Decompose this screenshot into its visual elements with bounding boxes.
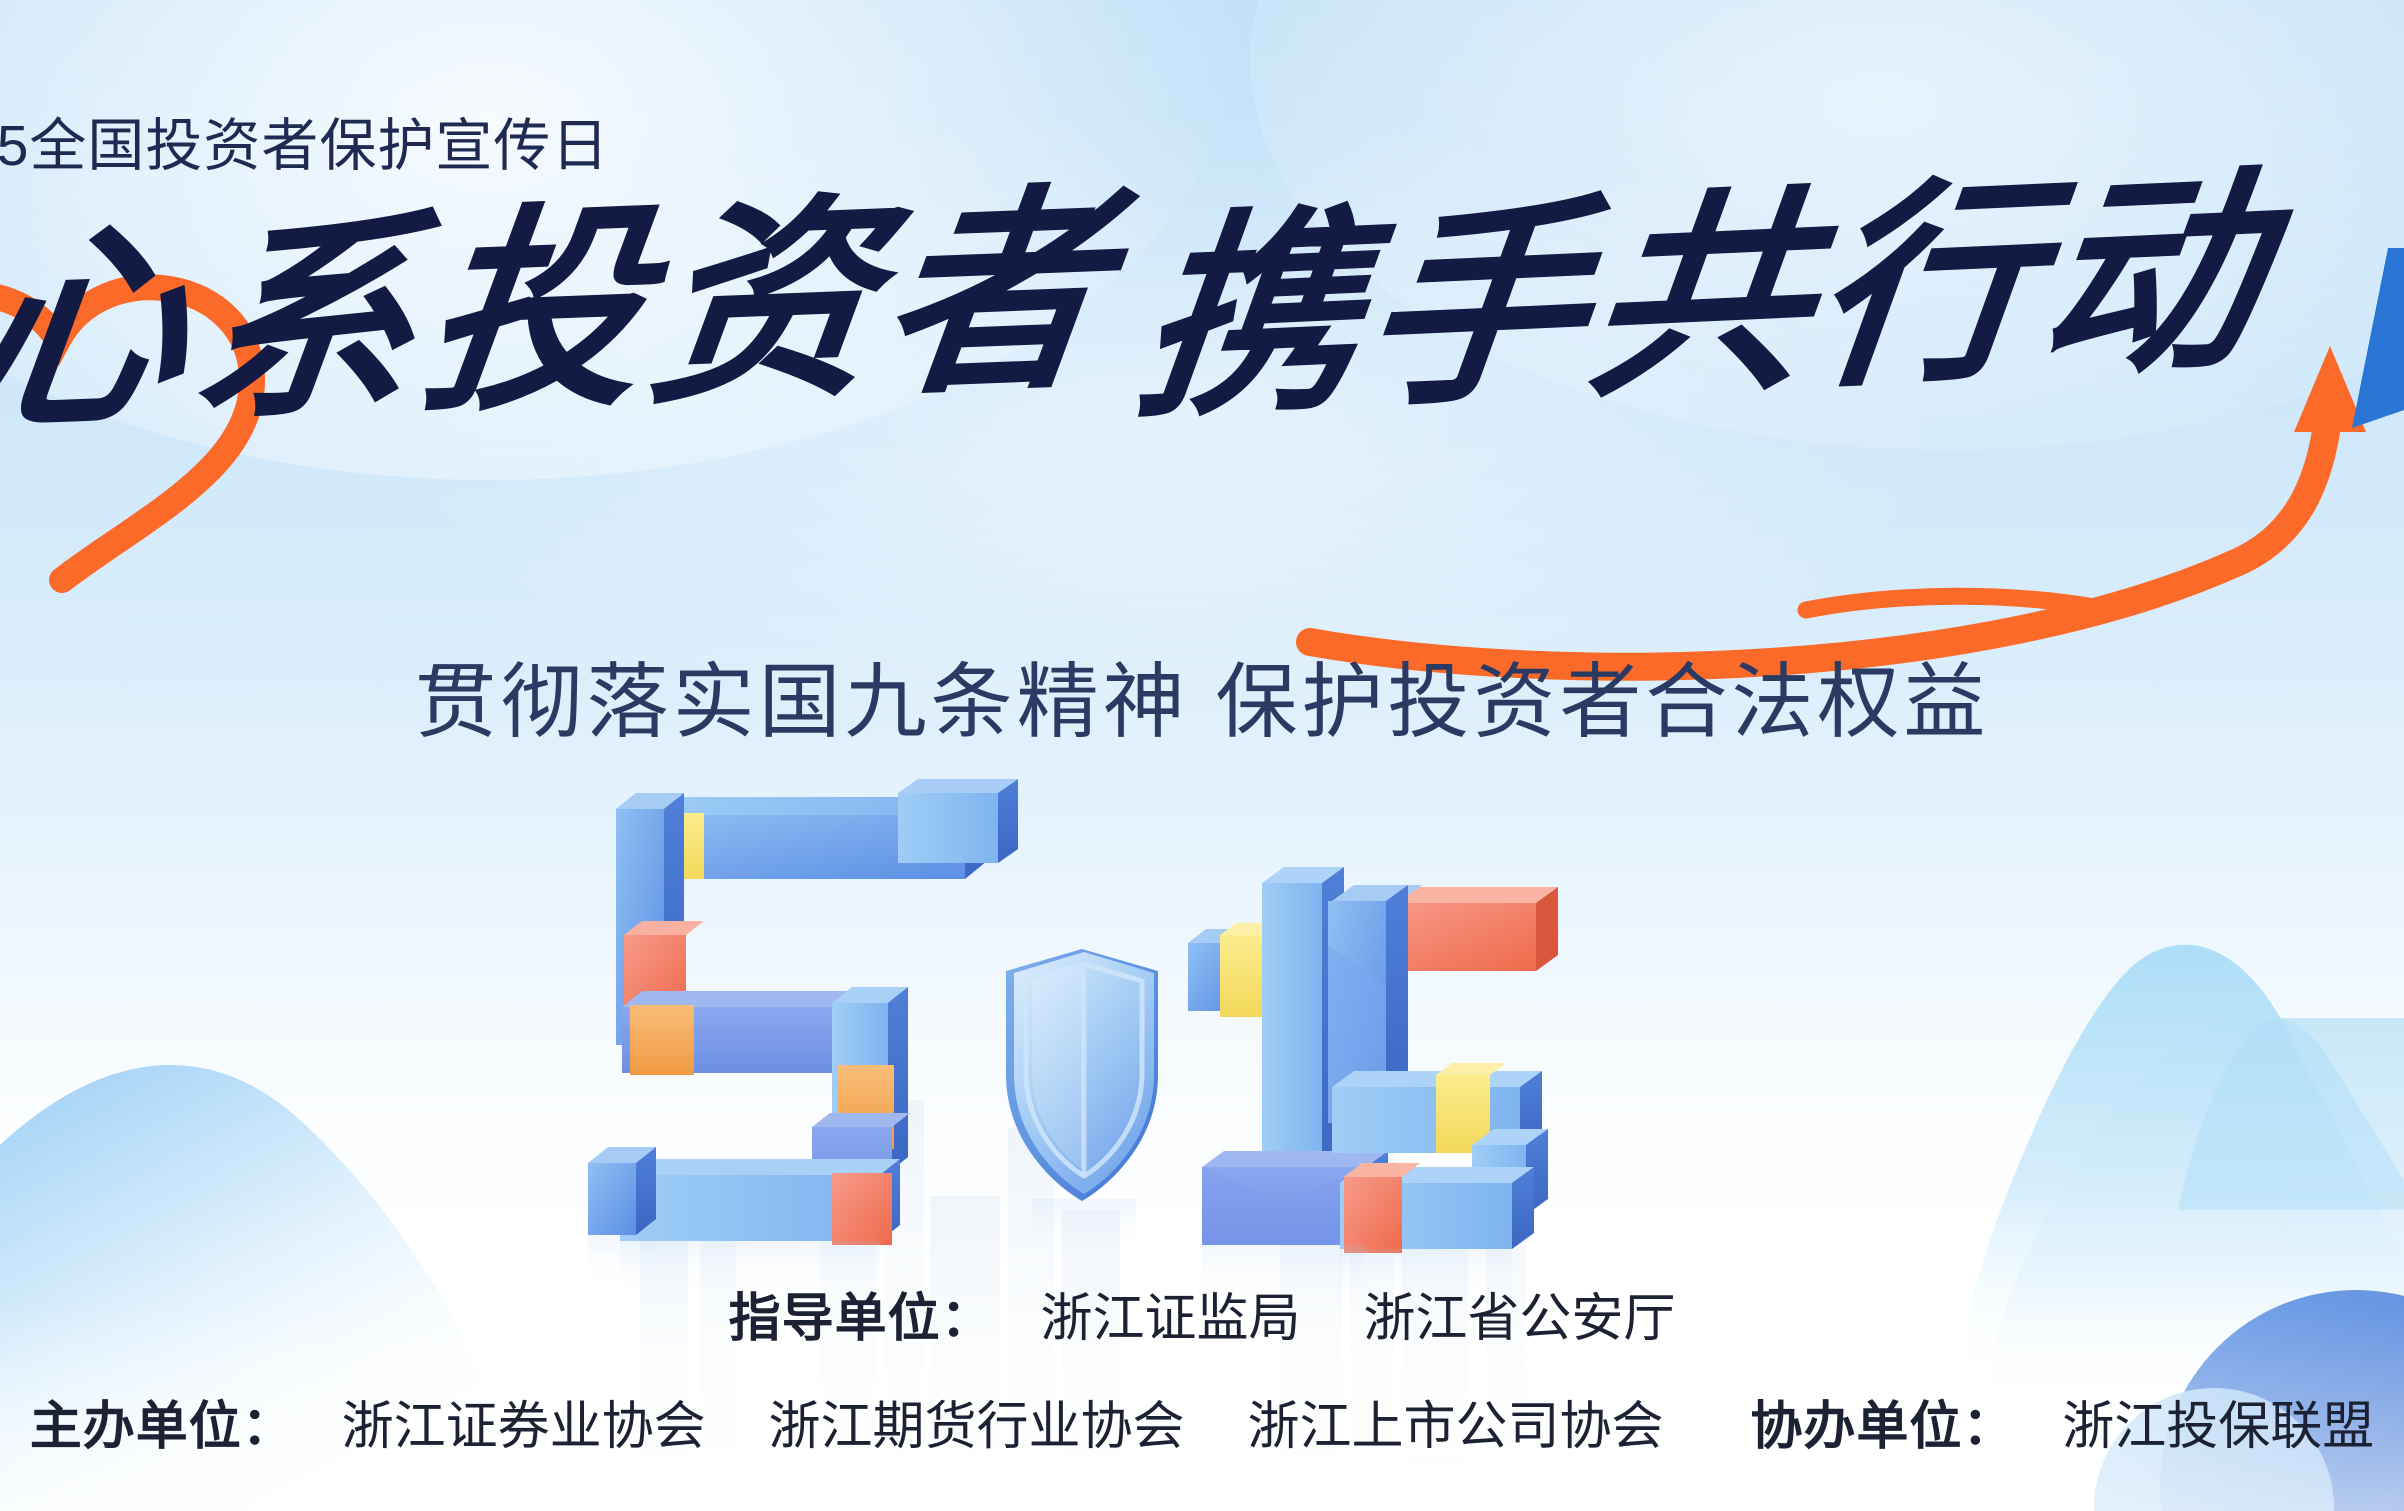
logo-515 <box>580 775 1580 1315</box>
poster-canvas: 15全国投资者保护宣传日 心系投资者 携手共行动 贯彻落实国九条精神 保护投资者… <box>0 0 2404 1511</box>
host-org-2: 浙江期货行业协会 <box>769 1398 1185 1456</box>
logo-515-svg <box>580 775 1580 1315</box>
footer: 指导单位： 浙江证监局 浙江省公安厅 主办单位： 浙江证券业协会 浙江期货行业协… <box>0 1293 2404 1453</box>
logo-digit-5-right <box>1328 885 1558 1253</box>
page-title: 15全国投资者保护宣传日 <box>0 118 609 175</box>
footer-guide-line: 指导单位： 浙江证监局 浙江省公安厅 <box>0 1293 2404 1345</box>
logo-digit-5-left <box>588 779 1018 1245</box>
guide-label: 指导单位： <box>729 1290 994 1348</box>
blue-chevron-icon <box>2352 248 2404 428</box>
footer-host-line: 主办单位： 浙江证券业协会 浙江期货行业协会 浙江上市公司协会 协办单位： 浙江… <box>0 1401 2404 1453</box>
guide-org-1: 浙江证监局 <box>1040 1290 1300 1348</box>
coorganizer-org-1: 浙江投保联盟 <box>2062 1398 2374 1456</box>
shield-icon <box>1006 939 1158 1201</box>
headline-left-text: 心系投资者 <box>0 180 1126 442</box>
host-org-1: 浙江证券业协会 <box>342 1398 706 1456</box>
headline-right-text: 携手共行动 <box>1128 161 2279 430</box>
host-org-3: 浙江上市公司协会 <box>1247 1398 1663 1456</box>
hill-right-peak <box>2178 1020 2404 1210</box>
guide-org-2: 浙江省公安厅 <box>1363 1290 1675 1348</box>
host-label: 主办单位： <box>30 1398 295 1456</box>
coorganizer-label: 协办单位： <box>1750 1398 2015 1456</box>
headline-group: 心系投资者 携手共行动 <box>0 200 2404 620</box>
subtitle: 贯彻落实国九条精神 保护投资者合法权益 <box>0 662 2404 744</box>
rising-arrow-icon <box>1310 398 2330 667</box>
